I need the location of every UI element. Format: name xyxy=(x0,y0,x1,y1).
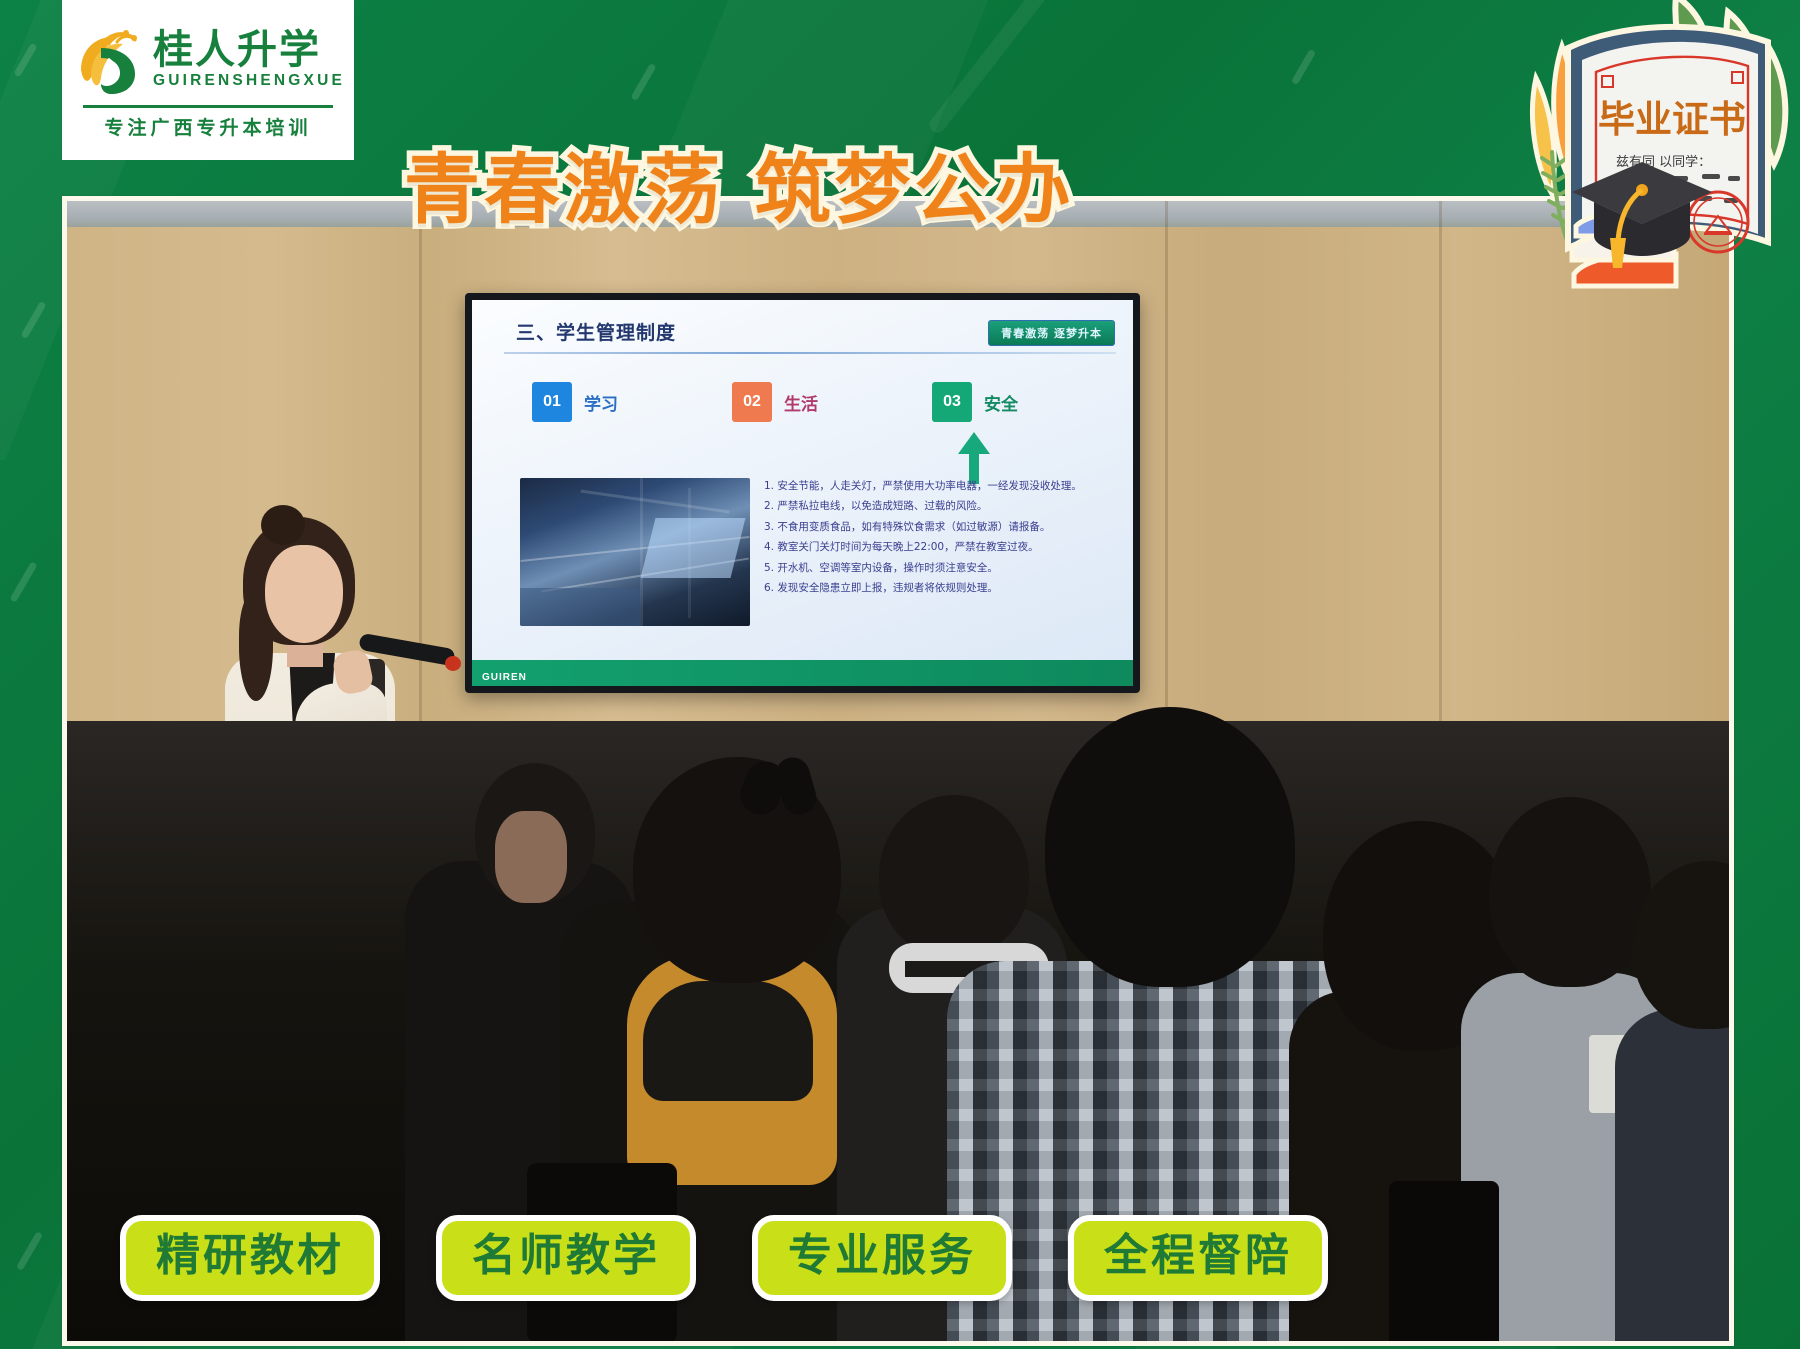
slide-title: 三、学生管理制度 xyxy=(516,318,676,345)
slide-badge: 青春激荡 逐梦升本 xyxy=(988,320,1115,346)
svg-text:毕业证书: 毕业证书 xyxy=(1598,98,1746,141)
graduation-certificate-illustration: 毕业证书 兹有同 以同学： xyxy=(1376,0,1800,296)
logo-name-cn: 桂人升学 xyxy=(153,31,321,69)
chip-number: 03 xyxy=(932,382,972,422)
slide-inset-photo xyxy=(520,478,750,626)
bullet-item: 1. 安全节能，人走关灯，严禁使用大功率电器，一经发现没收处理。 xyxy=(764,476,1124,496)
slide-chip-01: 01 学习 xyxy=(532,382,732,422)
poster-canvas: 桂人升学 GUIRENSHENGXUE 专注广西专升本培训 青春激荡 筑梦公办 xyxy=(0,0,1800,1349)
logo-tagline: 专注广西专升本培训 xyxy=(104,113,311,140)
chip-label: 生活 xyxy=(784,390,818,415)
chip-number: 01 xyxy=(532,382,572,422)
slide-chip-03: 03 安全 xyxy=(932,382,1018,422)
bullet-item: 3. 不食用变质食品，如有特殊饮食需求（如过敏源）请报备。 xyxy=(764,517,1124,537)
page-title: 青春激荡 筑梦公办 xyxy=(404,128,1074,238)
feature-pill-mingshijiaoxue[interactable]: 名师教学 xyxy=(436,1215,696,1301)
slide-brand-mark: GUIREN xyxy=(482,672,527,683)
wheat-sprout-logo-icon xyxy=(71,24,145,98)
chair xyxy=(1389,1181,1499,1341)
bullet-item: 5. 开水机、空调等室内设备，操作时须注意安全。 xyxy=(764,558,1124,578)
chip-label: 学习 xyxy=(584,390,618,415)
logo-name-en: GUIRENSHENGXUE xyxy=(153,70,345,92)
slide-footer-bar xyxy=(472,660,1133,686)
feature-pill-jingyanjiaocai[interactable]: 精研教材 xyxy=(120,1215,380,1301)
chip-label: 安全 xyxy=(984,390,1018,415)
logo-row: 桂人升学 GUIRENSHENGXUE xyxy=(71,24,345,98)
projector-screen: 三、学生管理制度 青春激荡 逐梦升本 01 学习 02 生活 0 xyxy=(465,293,1140,693)
photo-frame: 三、学生管理制度 青春激荡 逐梦升本 01 学习 02 生活 0 xyxy=(62,196,1734,1346)
presentation-slide: 三、学生管理制度 青春激荡 逐梦升本 01 学习 02 生活 0 xyxy=(472,300,1133,686)
chip-number: 02 xyxy=(732,382,772,422)
slide-title-rule xyxy=(504,352,1116,354)
slide-chip-row: 01 学习 02 生活 03 安全 xyxy=(532,382,1092,422)
logo-divider xyxy=(83,105,333,108)
logo-text: 桂人升学 GUIRENSHENGXUE xyxy=(153,31,345,92)
feature-pill-quanchengdupei[interactable]: 全程督陪 xyxy=(1068,1215,1328,1301)
slide-chip-02: 02 生活 xyxy=(732,382,932,422)
bullet-item: 6. 发现安全隐患立即上报，违规者将依规则处理。 xyxy=(764,578,1124,598)
feature-pill-zhuanyefuwu[interactable]: 专业服务 xyxy=(752,1215,1012,1301)
brand-logo-box: 桂人升学 GUIRENSHENGXUE 专注广西专升本培训 xyxy=(62,0,354,160)
bullet-item: 4. 教室关门关灯时间为每天晚上22:00，严禁在教室过夜。 xyxy=(764,537,1124,557)
classroom-photo: 三、学生管理制度 青春激荡 逐梦升本 01 学习 02 生活 0 xyxy=(67,201,1729,1341)
feature-pill-row: 精研教材 名师教学 专业服务 全程督陪 xyxy=(120,1215,1328,1301)
bullet-item: 2. 严禁私拉电线，以免造成短路、过载的风险。 xyxy=(764,496,1124,516)
slide-bullet-list: 1. 安全节能，人走关灯，严禁使用大功率电器，一经发现没收处理。 2. 严禁私拉… xyxy=(764,476,1124,599)
